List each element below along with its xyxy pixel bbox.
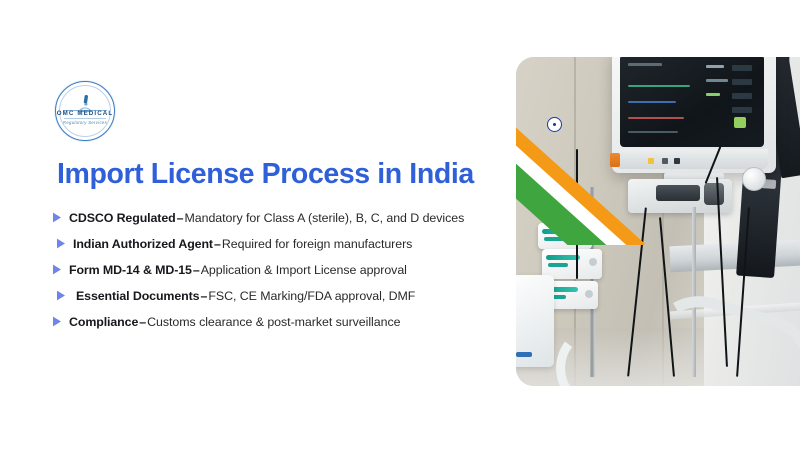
logo-divider-2 — [64, 118, 106, 119]
brand-logo[interactable]: OMC MEDICAL Regulatory Services — [55, 81, 115, 141]
bullet-list: CDSCO Regulated – Mandatory for Class A … — [52, 205, 522, 335]
list-item: Compliance – Customs clearance & post-ma… — [52, 309, 522, 335]
list-item-dash: – — [199, 283, 208, 309]
list-item-label: CDSCO Regulated — [69, 205, 176, 231]
list-item-text: Customs clearance & post-market surveill… — [147, 309, 400, 335]
arrow-right-icon — [56, 290, 69, 301]
list-item-dash: – — [176, 205, 185, 231]
hero-photo — [516, 57, 800, 386]
list-item: Indian Authorized Agent – Required for f… — [52, 231, 522, 257]
photo-infusion-pump — [538, 223, 592, 249]
photo-monitor-bezel — [616, 149, 768, 169]
photo-orange-marker — [610, 153, 620, 167]
list-item-text: FSC, CE Marking/FDA approval, DMF — [208, 283, 415, 309]
logo-tagline: Regulatory Services — [55, 120, 115, 125]
arrow-right-icon — [52, 212, 65, 223]
photo-monitor-led-amber — [648, 158, 654, 164]
list-item-label: Essential Documents — [73, 283, 199, 309]
photo-monitor-screen — [620, 57, 764, 147]
page-title: Import License Process in India — [57, 158, 474, 191]
list-item-dash: – — [213, 231, 222, 257]
photo-monitor-led-grey — [662, 158, 668, 164]
list-item-text: Application & Import License approval — [201, 257, 407, 283]
photo-cable — [576, 149, 578, 279]
arrow-right-icon — [52, 264, 65, 275]
list-item-label: Compliance — [69, 309, 138, 335]
logo-name: OMC MEDICAL — [55, 110, 115, 117]
hero-photo-image — [516, 57, 800, 386]
list-item-label: Indian Authorized Agent — [73, 231, 213, 257]
list-item-dash: – — [192, 257, 201, 283]
arrow-right-icon — [56, 238, 69, 249]
photo-left-device — [516, 275, 554, 367]
list-item: Form MD-14 & MD-15 – Application & Impor… — [52, 257, 522, 283]
list-item-text: Required for foreign manufacturers — [222, 231, 412, 257]
list-item-label: Form MD-14 & MD-15 — [69, 257, 192, 283]
list-item: Essential Documents – FSC, CE Marking/FD… — [52, 283, 522, 309]
list-item-dash: – — [138, 309, 147, 335]
list-item-text: Mandatory for Class A (sterile), B, C, a… — [185, 205, 465, 231]
slide-root: OMC MEDICAL Regulatory Services Import L… — [0, 0, 800, 450]
arrow-right-icon — [52, 316, 65, 327]
list-item: CDSCO Regulated – Mandatory for Class A … — [52, 205, 522, 231]
photo-monitor-knob — [742, 167, 766, 191]
photo-monitor-led-dark — [674, 158, 680, 164]
